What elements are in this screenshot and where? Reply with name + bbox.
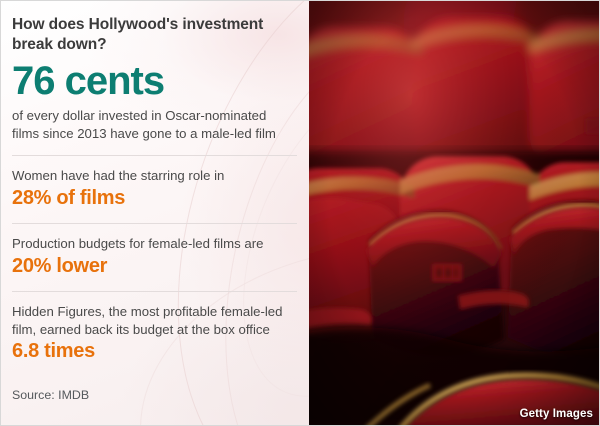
stat-value-text: 6.8 times (12, 340, 95, 362)
source-attribution: Source: IMDB (12, 388, 89, 402)
stat-block-production-budgets: Production budgets for female-led films … (12, 235, 297, 278)
page-title: How does Hollywood's investment break do… (12, 15, 297, 54)
stat-block-hidden-figures: Hidden Figures, the most profitable fema… (12, 303, 297, 363)
infographic-card: How does Hollywood's investment break do… (0, 0, 600, 426)
photo-panel: Getty Images (309, 1, 599, 425)
stat-block-starring-role: Women have had the starring role in 28% … (12, 167, 297, 210)
stat-lead-text: Hidden Figures, the most profitable fema… (12, 304, 282, 337)
photo-credit: Getty Images (520, 408, 593, 420)
stat-lead-text: Production budgets for female-led films … (12, 235, 297, 253)
section-divider (12, 291, 297, 292)
hero-statistic-value: 76 cents (12, 60, 297, 102)
hero-statistic-description: of every dollar invested in Oscar-nomina… (12, 107, 297, 142)
section-divider (12, 223, 297, 224)
text-panel: How does Hollywood's investment break do… (1, 1, 309, 425)
stat-value-text: 20% lower (12, 254, 297, 278)
section-divider (12, 155, 297, 156)
stat-lead-text: Women have had the starring role in (12, 167, 297, 185)
text-panel-content: How does Hollywood's investment break do… (12, 15, 297, 363)
stat-value-text: 28% of films (12, 186, 297, 210)
cinema-seats-photo (309, 1, 599, 425)
